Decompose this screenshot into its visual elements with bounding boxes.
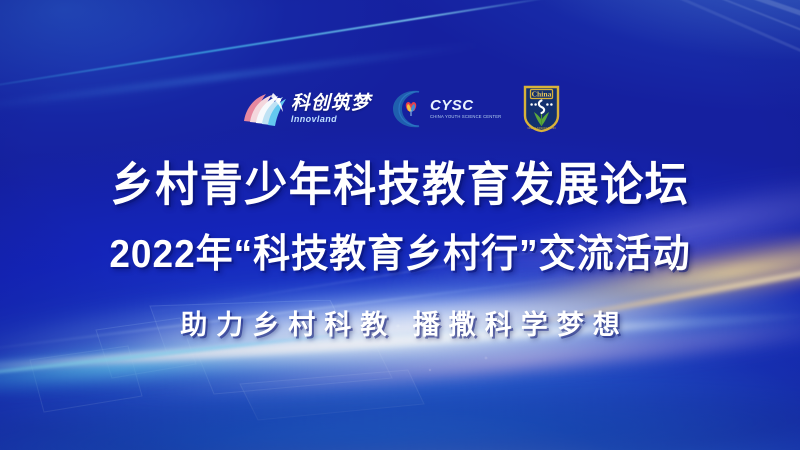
page-tagline: 助力乡村科教 播撒科学梦想 (171, 303, 629, 342)
poster-content: 科创筑梦 Innovland CYSC (0, 0, 800, 450)
innovland-wing-icon (240, 88, 286, 130)
china-shield-badge-icon: China CHINA ASSOCIATION (523, 85, 560, 133)
svg-text:CHINA ASSOCIATION: CHINA ASSOCIATION (528, 126, 556, 130)
cysc-sub-label: CHINA YOUTH SCIENCE CENTER (430, 115, 501, 119)
logo-cysc: CYSC CHINA YOUTH SCIENCE CENTER (389, 84, 505, 134)
page-title: 乡村青少年科技教育发展论坛 (111, 148, 690, 215)
cysc-arc-icon (389, 86, 429, 132)
cysc-text: CYSC CHINA YOUTH SCIENCE CENTER (430, 98, 505, 119)
event-poster: 科创筑梦 Innovland CYSC (0, 0, 800, 450)
innovland-cn-label: 科创筑梦 (291, 94, 371, 113)
logo-row: 科创筑梦 Innovland CYSC (240, 84, 560, 134)
innovland-en-label: Innovland (291, 115, 371, 124)
logo-innovland: 科创筑梦 Innovland (240, 84, 371, 134)
svg-text:China: China (532, 90, 552, 99)
logo-china-badge: China CHINA ASSOCIATION (523, 84, 560, 134)
cysc-main-label: CYSC (430, 98, 505, 113)
innovland-text: 科创筑梦 Innovland (291, 94, 371, 124)
page-subtitle: 2022年“科技教育乡村行”交流活动 (109, 221, 690, 278)
